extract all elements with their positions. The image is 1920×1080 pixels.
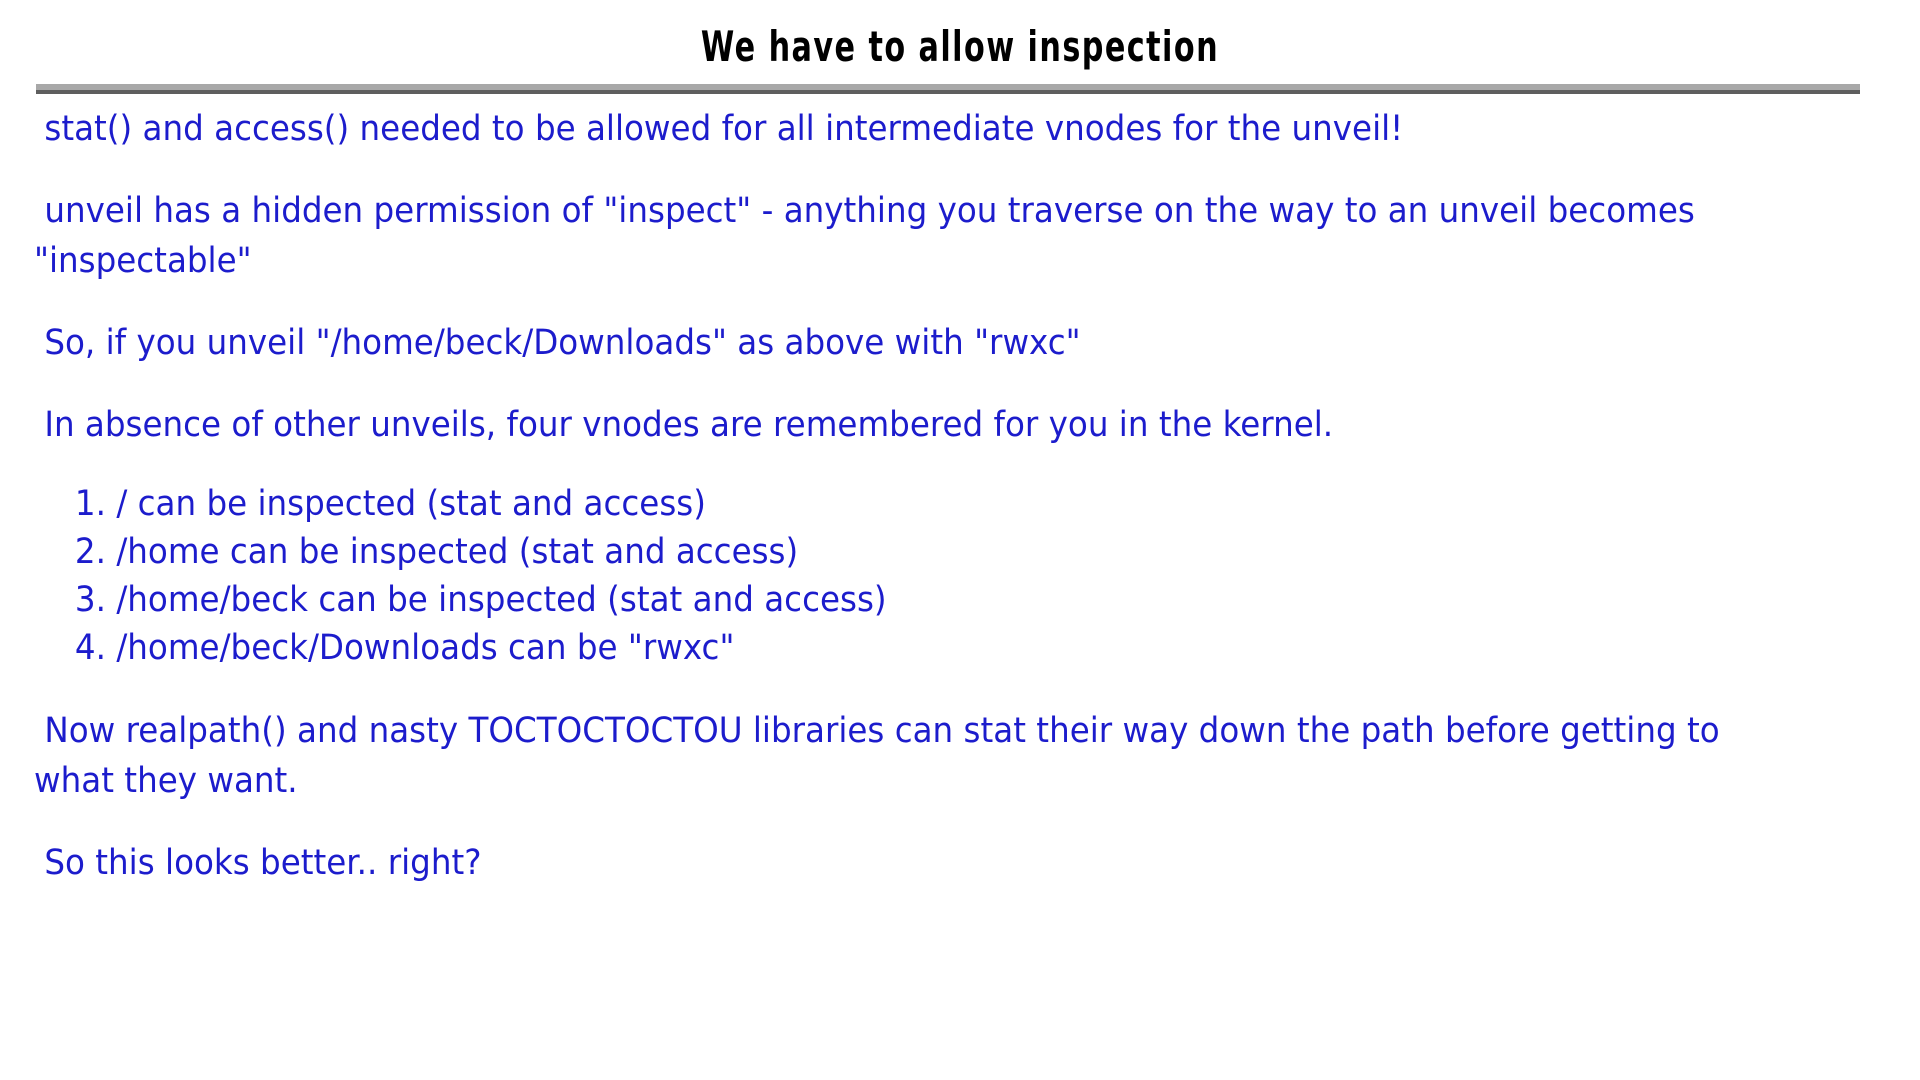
- title-divider: [36, 84, 1860, 94]
- vnode-list: 1. / can be inspected (stat and access) …: [34, 480, 1745, 672]
- list-item: 1. / can be inspected (stat and access): [75, 480, 1745, 528]
- list-item: 4. /home/beck/Downloads can be "rwxc": [75, 624, 1745, 672]
- page-title: We have to allow inspection: [269, 24, 1651, 70]
- paragraph-in-absence: In absence of other unveils, four vnodes…: [34, 400, 1745, 450]
- paragraph-looks-better: So this looks better.. right?: [34, 838, 1745, 888]
- paragraph-stat-access: stat() and access() needed to be allowed…: [34, 104, 1745, 154]
- slide-body: stat() and access() needed to be allowed…: [34, 104, 1745, 920]
- paragraph-so-if-you-unveil: So, if you unveil "/home/beck/Downloads"…: [34, 318, 1745, 368]
- slide: We have to allow inspection stat() and a…: [0, 0, 1920, 1080]
- list-item: 2. /home can be inspected (stat and acce…: [75, 528, 1745, 576]
- list-item: 3. /home/beck can be inspected (stat and…: [75, 576, 1745, 624]
- paragraph-realpath: Now realpath() and nasty TOCTOCTOCTOU li…: [34, 706, 1745, 806]
- paragraph-hidden-inspect: unveil has a hidden permission of "inspe…: [34, 186, 1745, 286]
- divider-band-bottom: [36, 90, 1860, 94]
